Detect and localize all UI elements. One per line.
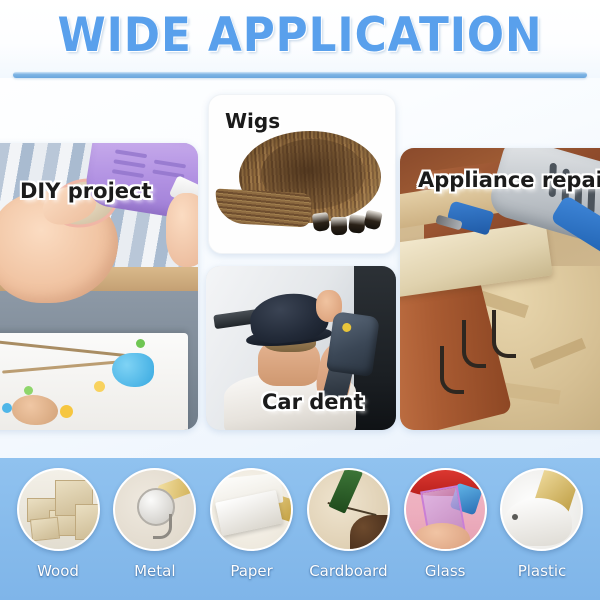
feature-card-appliance-repair: Appliance repair	[400, 148, 600, 430]
cardboard-icon	[307, 468, 390, 551]
material-item-paper: Paper	[210, 468, 294, 598]
vent-slot	[115, 149, 147, 158]
card-caption-appliance-repair: Appliance repair	[418, 168, 600, 192]
keratin-tip	[312, 212, 330, 232]
craft-bead	[136, 339, 145, 348]
material-label-cardboard: Cardboard	[309, 562, 387, 580]
material-item-glass: Glass	[403, 468, 487, 598]
wood-blocks-icon	[17, 468, 100, 551]
wood-block	[75, 504, 99, 540]
material-item-wood: Wood	[16, 468, 100, 598]
dent-puller-glue-gun	[326, 311, 380, 377]
page-title: WIDE APPLICATION	[21, 8, 579, 64]
material-label-plastic: Plastic	[518, 562, 567, 580]
material-item-plastic: Plastic	[500, 468, 584, 598]
paper-sheets-icon	[210, 468, 293, 551]
materials-row: Wood Metal Paper	[0, 468, 600, 598]
glass-icon	[404, 468, 487, 551]
metal-hook	[440, 346, 464, 394]
tan-craft-shape	[12, 395, 58, 425]
second-hand	[166, 193, 198, 267]
card-caption-car-dent: Car dent	[262, 390, 364, 414]
keratin-tip	[363, 210, 382, 231]
blue-craft-shape	[112, 353, 154, 387]
card-caption-diy-project: DIY project	[20, 179, 152, 203]
dark-corner	[350, 515, 390, 551]
vent-slot	[154, 160, 186, 169]
craft-bead	[24, 386, 33, 395]
keratin-tip	[331, 217, 348, 236]
hand	[414, 523, 470, 551]
material-label-wood: Wood	[37, 562, 79, 580]
metal-hook-icon	[113, 468, 196, 551]
feature-card-car-dent: Car dent	[206, 266, 396, 430]
vent-slot	[113, 159, 145, 168]
vent-slot	[112, 169, 144, 178]
craft-bead	[60, 405, 73, 418]
metal-hook	[462, 320, 486, 368]
keratin-tip	[348, 214, 366, 234]
wood-block	[29, 517, 59, 542]
white-plastic-item	[504, 498, 572, 546]
title-divider	[13, 72, 587, 78]
metal-hook	[492, 310, 516, 358]
feature-card-diy-project: DIY project	[0, 143, 198, 430]
craft-bead	[2, 403, 12, 413]
card-caption-wigs: Wigs	[225, 109, 280, 133]
plastic-icon	[500, 468, 583, 551]
materials-band: Wood Metal Paper	[0, 458, 600, 600]
material-item-metal: Metal	[113, 468, 197, 598]
hair-strands	[214, 189, 312, 228]
material-label-metal: Metal	[134, 562, 175, 580]
indicator-light	[342, 322, 352, 332]
feature-card-wigs: Wigs	[208, 94, 396, 254]
product-feature-graphic: WIDE APPLICATION	[0, 0, 600, 600]
title-band: WIDE APPLICATION	[0, 0, 600, 78]
material-label-glass: Glass	[425, 562, 466, 580]
material-label-paper: Paper	[230, 562, 272, 580]
material-item-cardboard: Cardboard	[306, 468, 390, 598]
craft-bead	[94, 381, 105, 392]
